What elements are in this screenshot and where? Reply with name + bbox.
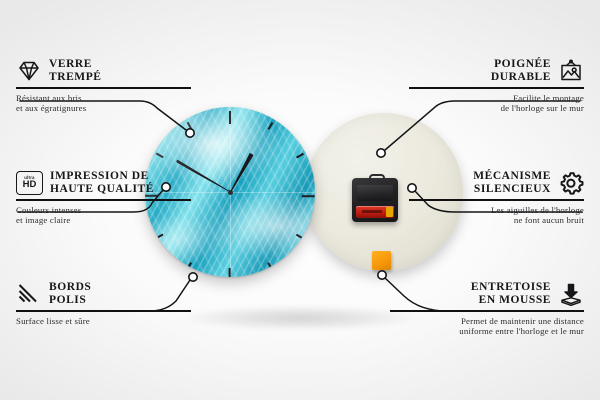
picture-hanger-icon bbox=[558, 59, 584, 83]
battery-positive-terminal bbox=[386, 207, 393, 217]
foam-spacer bbox=[372, 251, 391, 270]
callout-header: BORDS POLIS bbox=[16, 281, 191, 307]
callout-bords-polis[interactable]: BORDS POLIS Surface lisse et sûre bbox=[16, 281, 191, 326]
callout-header: ENTRETOISE EN MOUSSE bbox=[390, 281, 584, 307]
callout-header: VERRE TREMPÉ bbox=[16, 58, 191, 84]
ultra-hd-icon: ultra HD bbox=[16, 171, 43, 195]
callout-divider bbox=[16, 87, 191, 89]
callout-impression-haute-qualite[interactable]: ultra HD IMPRESSION DE HAUTE QUALITÉ Cou… bbox=[16, 170, 191, 226]
callout-header: MÉCANISME SILENCIEUX bbox=[409, 170, 584, 196]
callout-title: ENTRETOISE EN MOUSSE bbox=[471, 281, 551, 307]
callout-subtitle-line1: Permet de maintenir une distance bbox=[390, 316, 584, 327]
callout-verre-trempe[interactable]: VERRE TREMPÉ Résistant aux bris et aux é… bbox=[16, 58, 191, 114]
callout-subtitle-line1: Surface lisse et sûre bbox=[16, 316, 191, 327]
callout-divider bbox=[16, 199, 191, 201]
callout-title: VERRE TREMPÉ bbox=[49, 58, 102, 84]
foam-spacer-icon bbox=[558, 282, 584, 306]
callout-mecanisme-silencieux[interactable]: MÉCANISME SILENCIEUX Les aiguilles de l'… bbox=[409, 170, 584, 226]
callout-entretoise-en-mousse[interactable]: ENTRETOISE EN MOUSSE Permet de maintenir… bbox=[390, 281, 584, 337]
callout-title: IMPRESSION DE HAUTE QUALITÉ bbox=[50, 170, 154, 196]
mechanism-housing-detail bbox=[357, 185, 393, 201]
callout-subtitle-line2: et image claire bbox=[16, 215, 191, 226]
clock-mechanism bbox=[352, 178, 398, 222]
callout-subtitle-line2: et aux égratignures bbox=[16, 103, 191, 114]
gear-icon bbox=[558, 171, 584, 195]
callout-title: MÉCANISME SILENCIEUX bbox=[473, 170, 551, 196]
mechanism-hanger-lug bbox=[369, 174, 385, 183]
callout-subtitle-line1: Les aiguilles de l'horloge bbox=[409, 205, 584, 216]
callout-poignee-durable[interactable]: POIGNÉE DURABLE Facilite le montage de l… bbox=[409, 58, 584, 114]
callout-header: POIGNÉE DURABLE bbox=[409, 58, 584, 84]
callout-divider bbox=[16, 310, 191, 312]
battery-label-band bbox=[362, 210, 382, 213]
callout-subtitle-line2: ne font aucun bruit bbox=[409, 215, 584, 226]
callout-subtitle-line1: Résistant aux bris bbox=[16, 93, 191, 104]
callout-divider bbox=[409, 87, 584, 89]
callout-subtitle-line1: Facilite le montage bbox=[409, 93, 584, 104]
callout-title: BORDS POLIS bbox=[49, 281, 91, 307]
diamond-icon bbox=[16, 59, 42, 83]
callout-subtitle-line2: de l'horloge sur le mur bbox=[409, 103, 584, 114]
polished-edges-icon bbox=[16, 282, 42, 306]
battery bbox=[356, 206, 394, 218]
anchor-dot-entretoise bbox=[378, 271, 386, 279]
ultra-hd-icon-main-text: HD bbox=[23, 180, 37, 190]
callout-subtitle-line2: uniforme entre l'horloge et le mur bbox=[390, 326, 584, 337]
callout-title: POIGNÉE DURABLE bbox=[491, 58, 551, 84]
callout-divider bbox=[409, 199, 584, 201]
callout-divider bbox=[390, 310, 584, 312]
callout-subtitle-line1: Couleurs intenses bbox=[16, 205, 191, 216]
callout-header: ultra HD IMPRESSION DE HAUTE QUALITÉ bbox=[16, 170, 191, 196]
infographic-canvas: VERRE TREMPÉ Résistant aux bris et aux é… bbox=[0, 0, 600, 400]
